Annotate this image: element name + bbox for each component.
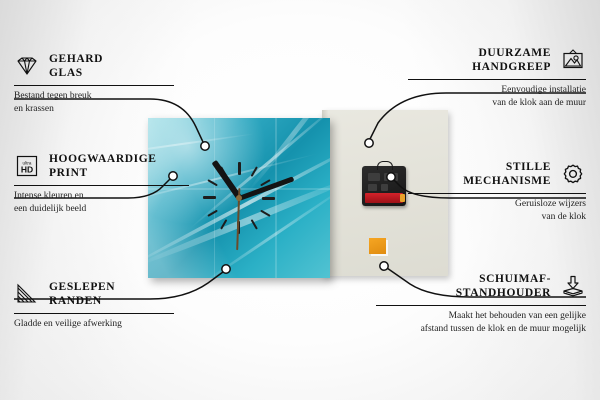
feature-description: Maakt het behouden van een gelijke afsta… [376,310,586,336]
infographic-canvas: GEHARD GLAS Bestand tegen breuk en krass… [0,0,600,400]
feature-title-line1: STILLE [463,160,551,174]
foam-spacer-pad [369,238,386,254]
feature-title-line1: SCHUIMAF- [456,272,551,286]
feature-title-line2: PRINT [49,166,157,180]
feature-header: GESLEPEN RANDEN [14,280,174,309]
feature-schuimafstandhouder[interactable]: SCHUIMAF- STANDHOUDER Maakt het behouden… [376,272,586,336]
feature-duurzame-handgreep[interactable]: DUURZAME HANDGREEP Eenvoudige installati… [408,46,586,110]
feature-title-line1: GESLEPEN [49,280,115,294]
feature-title: SCHUIMAF- STANDHOUDER [456,272,551,301]
feature-title: STILLE MECHANISME [463,160,551,189]
feature-description: Geruisloze wijzers van de klok [408,198,586,224]
divider [408,193,586,194]
mechanism-slot [381,184,388,191]
product-photo [148,104,448,282]
svg-text:HD: HD [21,165,33,175]
diamond-icon [14,55,40,77]
battery [365,193,403,203]
mechanism-slot [368,184,377,191]
feature-title-line2: GLAS [49,66,103,80]
feature-header: DUURZAME HANDGREEP [408,46,586,75]
divider [14,85,174,86]
feature-stille-mechanisme[interactable]: STILLE MECHANISME Geruisloze wijzers van… [408,160,586,224]
feature-title: DUURZAME HANDGREEP [472,46,551,75]
feature-hoogwaardige-print[interactable]: ultra HD HOOGWAARDIGE PRINT Intense kleu… [14,152,189,216]
mechanism-slot [368,173,380,181]
feature-title-line2: HANDGREEP [472,60,551,74]
divider [14,185,189,186]
mechanism-slot [384,173,398,181]
beveled-edge-icon [14,283,40,305]
feature-title-line1: GEHARD [49,52,103,66]
foam-spacer-icon [560,275,586,297]
gear-icon [560,163,586,185]
hanging-hook-icon [377,161,393,170]
picture-frame-icon [560,49,586,71]
feature-description: Eenvoudige installatie van de klok aan d… [408,84,586,110]
feature-description: Bestand tegen breuk en krassen [14,90,174,116]
feature-title: HOOGWAARDIGE PRINT [49,152,157,181]
feature-title-line2: MECHANISME [463,174,551,188]
feature-geslepen-randen[interactable]: GESLEPEN RANDEN Gladde en veilige afwerk… [14,280,174,331]
feature-header: GEHARD GLAS [14,52,174,81]
feature-title-line2: STANDHOUDER [456,286,551,300]
feature-title-line2: RANDEN [49,294,115,308]
feature-description: Intense kleuren en een duidelijk beeld [14,190,189,216]
feature-title: GESLEPEN RANDEN [49,280,115,309]
ultra-hd-icon: ultra HD [14,155,40,177]
divider [408,79,586,80]
clock-center-pin [236,195,242,201]
feature-header: ultra HD HOOGWAARDIGE PRINT [14,152,189,181]
divider [376,305,586,306]
divider [14,313,174,314]
feature-header: STILLE MECHANISME [408,160,586,189]
feature-title-line1: DUURZAME [472,46,551,60]
battery-cap [400,194,405,202]
feature-gehard-glas[interactable]: GEHARD GLAS Bestand tegen breuk en krass… [14,52,174,116]
feature-title: GEHARD GLAS [49,52,103,81]
feature-title-line1: HOOGWAARDIGE [49,152,157,166]
clock-mechanism [362,166,406,206]
feature-header: SCHUIMAF- STANDHOUDER [376,272,586,301]
feature-description: Gladde en veilige afwerking [14,318,174,331]
